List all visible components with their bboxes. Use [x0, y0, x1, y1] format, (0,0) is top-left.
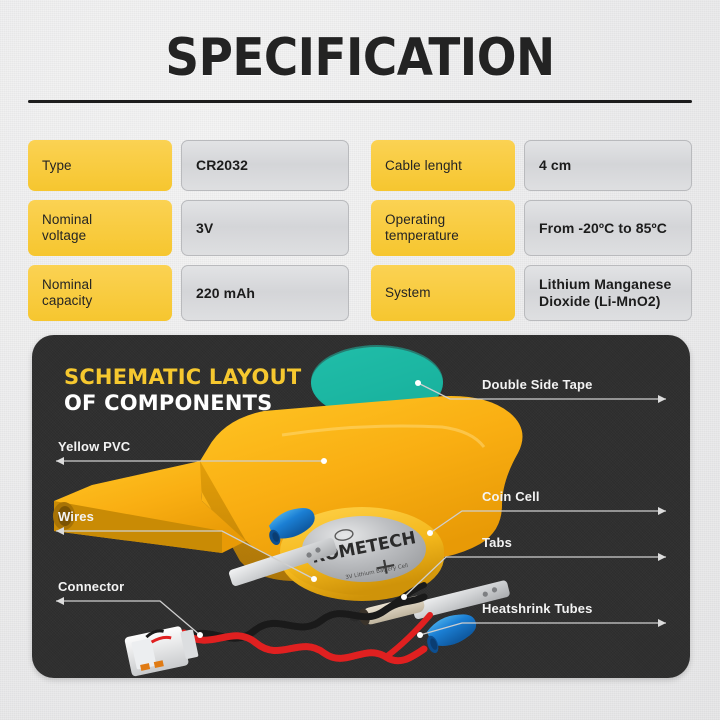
- spec-key-operating-temperature: Operating temperature: [371, 200, 515, 256]
- callout-yellow-pvc: Yellow PVC: [58, 439, 130, 455]
- schematic-heading-line1: SCHEMATIC LAYOUT: [64, 365, 301, 390]
- schematic-heading: SCHEMATIC LAYOUT OF COMPONENTS: [64, 365, 301, 417]
- spec-value-operating-temperature: From -20ºC to 85ºC: [524, 200, 692, 256]
- schematic-panel: ROMETECH 3V Lithium Battery Cell: [32, 335, 690, 678]
- spec-row-nominal-voltage: Nominal voltage 3V: [28, 200, 349, 256]
- callout-connector: Connector: [58, 579, 124, 595]
- spec-row-system: System Lithium Manganese Dioxide (Li-MnO…: [371, 265, 692, 321]
- specification-table: Type CR2032 Cable lenght 4 cm Nominal vo…: [28, 140, 692, 321]
- title-divider: [28, 100, 692, 103]
- schematic-heading-line2: OF COMPONENTS: [64, 390, 301, 417]
- spec-value-system: Lithium Manganese Dioxide (Li-MnO2): [524, 265, 692, 321]
- spec-key-system: System: [371, 265, 515, 321]
- callout-heatshrink-tubes: Heatshrink Tubes: [482, 601, 593, 617]
- spec-key-nominal-voltage: Nominal voltage: [28, 200, 172, 256]
- spec-key-nominal-capacity: Nominal capacity: [28, 265, 172, 321]
- spec-value-cable-length: 4 cm: [524, 140, 692, 191]
- spec-row-operating-temperature: Operating temperature From -20ºC to 85ºC: [371, 200, 692, 256]
- callout-wires: Wires: [58, 509, 94, 525]
- page-title: SPECIFICATION: [0, 30, 720, 86]
- spec-value-type: CR2032: [181, 140, 349, 191]
- spec-value-nominal-capacity: 220 mAh: [181, 265, 349, 321]
- spec-row-cable-length: Cable lenght 4 cm: [371, 140, 692, 191]
- callout-double-side-tape: Double Side Tape: [482, 377, 593, 393]
- spec-row-type: Type CR2032: [28, 140, 349, 191]
- spec-key-type: Type: [28, 140, 172, 191]
- spec-row-nominal-capacity: Nominal capacity 220 mAh: [28, 265, 349, 321]
- spec-key-cable-length: Cable lenght: [371, 140, 515, 191]
- callout-coin-cell: Coin Cell: [482, 489, 540, 505]
- spec-value-nominal-voltage: 3V: [181, 200, 349, 256]
- callout-tabs: Tabs: [482, 535, 512, 551]
